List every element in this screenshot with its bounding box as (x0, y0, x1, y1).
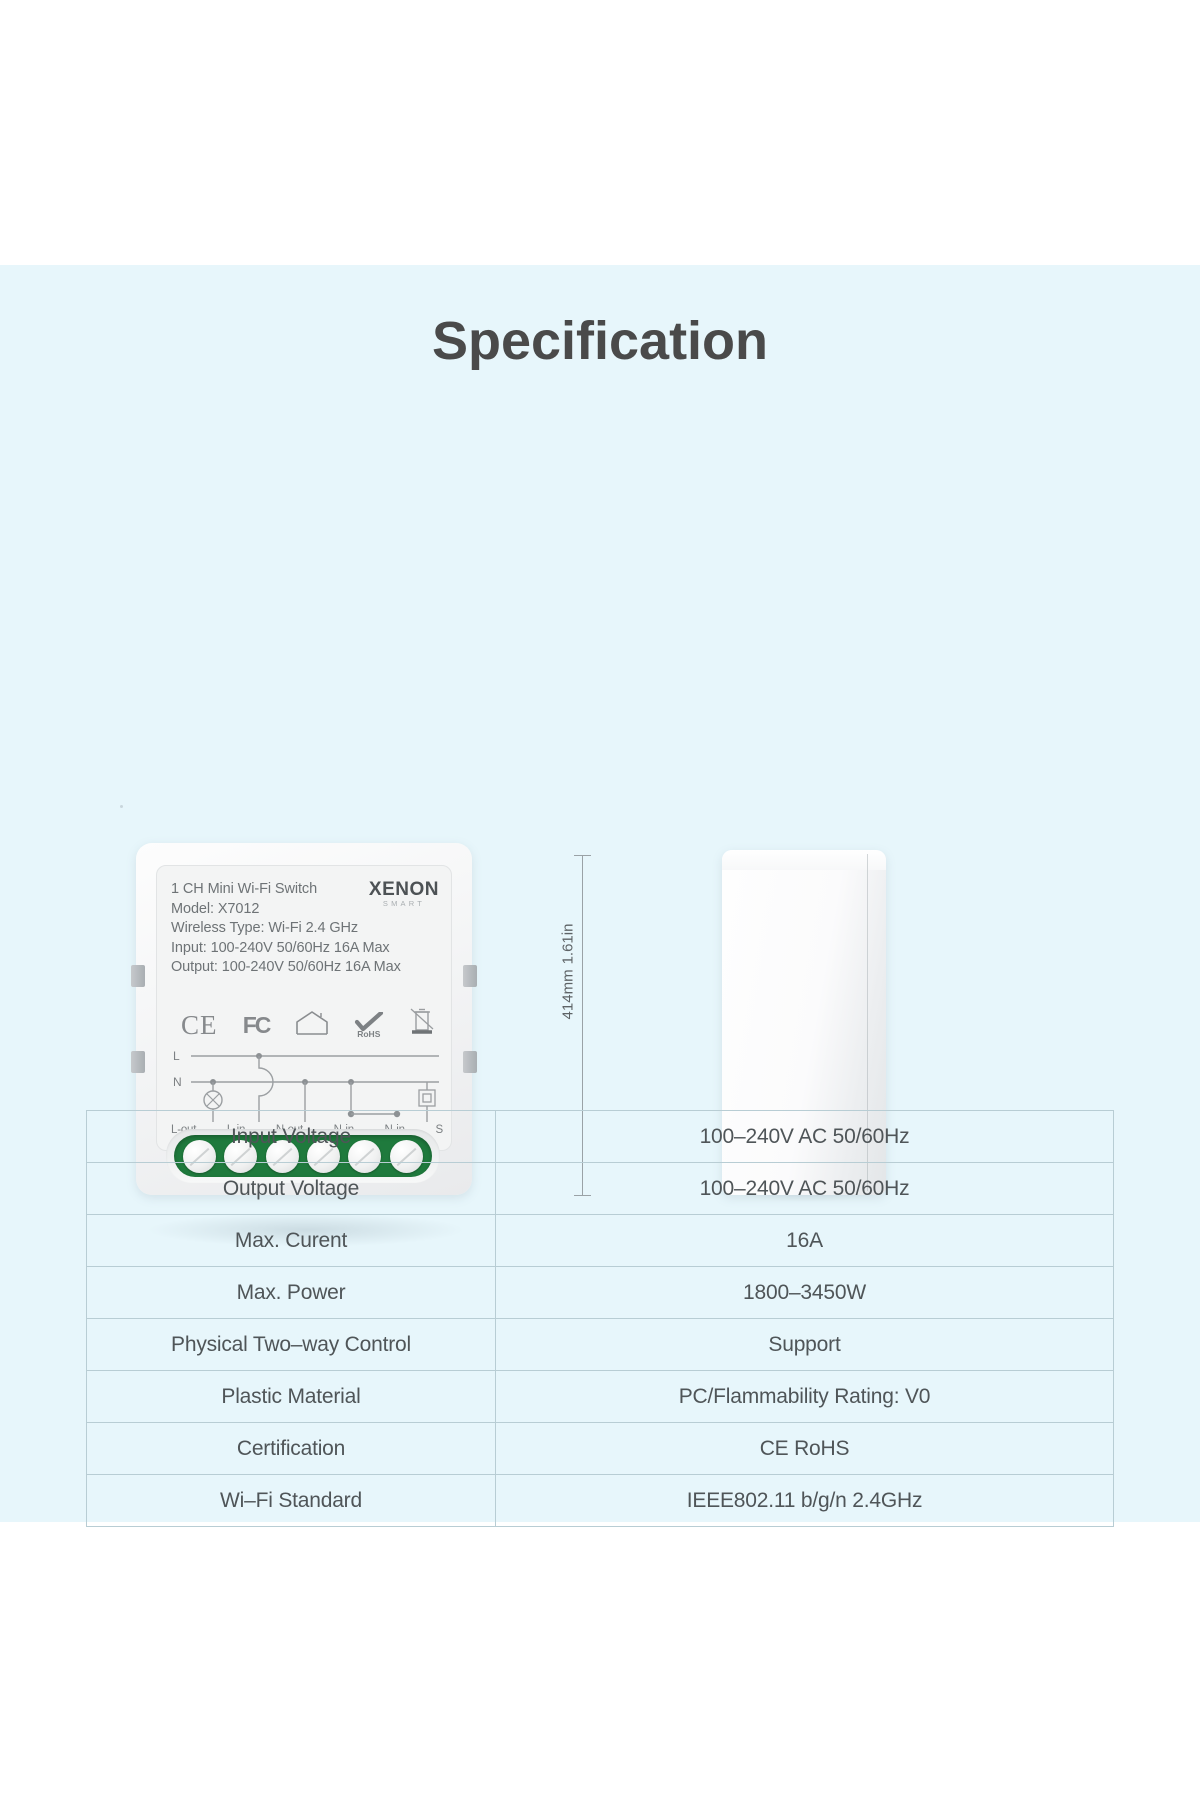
weee-mark-icon (409, 1008, 435, 1043)
spec-key: Physical Two–way Control (87, 1319, 496, 1371)
brand-tagline: SMART (369, 899, 439, 909)
spec-key: Plastic Material (87, 1371, 496, 1423)
spec-key: Output Voltage (87, 1163, 496, 1215)
mounting-ear-right-bottom (463, 1051, 477, 1073)
table-row: Plastic Material PC/Flammability Rating:… (87, 1371, 1114, 1423)
spec-value: 1800–3450W (496, 1267, 1114, 1319)
rohs-mark-icon: RoHS (354, 1012, 384, 1039)
spec-key: Wi–Fi Standard (87, 1475, 496, 1527)
decorative-dot (120, 805, 123, 808)
svg-text:N: N (173, 1075, 182, 1089)
specification-table: Input Voltage 100–240V AC 50/60Hz Output… (86, 1110, 1114, 1527)
dimension-cap-top (574, 855, 591, 856)
product-hero: 1 CH Mini Wi-Fi Switch Model: X7012 Wire… (0, 400, 1200, 900)
label-line-output: Output: 100-240V 50/60Hz 16A Max (171, 958, 439, 978)
spec-value: 100–240V AC 50/60Hz (496, 1111, 1114, 1163)
table-row: Output Voltage 100–240V AC 50/60Hz (87, 1163, 1114, 1215)
label-line-wireless: Wireless Type: Wi-Fi 2.4 GHz (171, 919, 439, 939)
table-row: Wi–Fi Standard IEEE802.11 b/g/n 2.4GHz (87, 1475, 1114, 1527)
svg-text:L: L (173, 1049, 180, 1063)
mounting-ear-left-top (131, 965, 145, 987)
table-row: Input Voltage 100–240V AC 50/60Hz (87, 1111, 1114, 1163)
label-line-input: Input: 100-240V 50/60Hz 16A Max (171, 939, 439, 959)
table-row: Max. Curent 16A (87, 1215, 1114, 1267)
house-mark-icon (295, 1010, 329, 1041)
bottom-white-band (0, 1522, 1200, 1800)
fcc-mark-icon: FC (243, 1014, 270, 1037)
spec-value: CE RoHS (496, 1423, 1114, 1475)
page-title: Specification (0, 310, 1200, 372)
spec-value: IEEE802.11 b/g/n 2.4GHz (496, 1475, 1114, 1527)
spec-value: 16A (496, 1215, 1114, 1267)
spec-value: PC/Flammability Rating: V0 (496, 1371, 1114, 1423)
brand-name: XENON (369, 880, 439, 899)
top-white-band (0, 0, 1200, 265)
table-row: Physical Two–way Control Support (87, 1319, 1114, 1371)
dimension-text: 414mm 1.61in (559, 924, 576, 1020)
dimension-inch: 1.61in (559, 924, 576, 965)
spec-key: Certification (87, 1423, 496, 1475)
brand-logo: XENON SMART (369, 880, 439, 909)
spec-value: Support (496, 1319, 1114, 1371)
device-side-top-face (722, 850, 886, 870)
certification-icon-row: CE FC RoHS (181, 1008, 435, 1042)
ce-mark-icon: CE (181, 1012, 218, 1039)
table-row: Certification CE RoHS (87, 1423, 1114, 1475)
mounting-ear-right-top (463, 965, 477, 987)
spec-key: Max. Curent (87, 1215, 496, 1267)
spec-value: 100–240V AC 50/60Hz (496, 1163, 1114, 1215)
spec-key: Input Voltage (87, 1111, 496, 1163)
spec-key: Max. Power (87, 1267, 496, 1319)
dimension-mm: 414mm (559, 969, 576, 1019)
rohs-label: RoHS (354, 1030, 384, 1039)
device-label-panel: 1 CH Mini Wi-Fi Switch Model: X7012 Wire… (156, 865, 452, 1151)
mounting-ear-left-bottom (131, 1051, 145, 1073)
table-row: Max. Power 1800–3450W (87, 1267, 1114, 1319)
